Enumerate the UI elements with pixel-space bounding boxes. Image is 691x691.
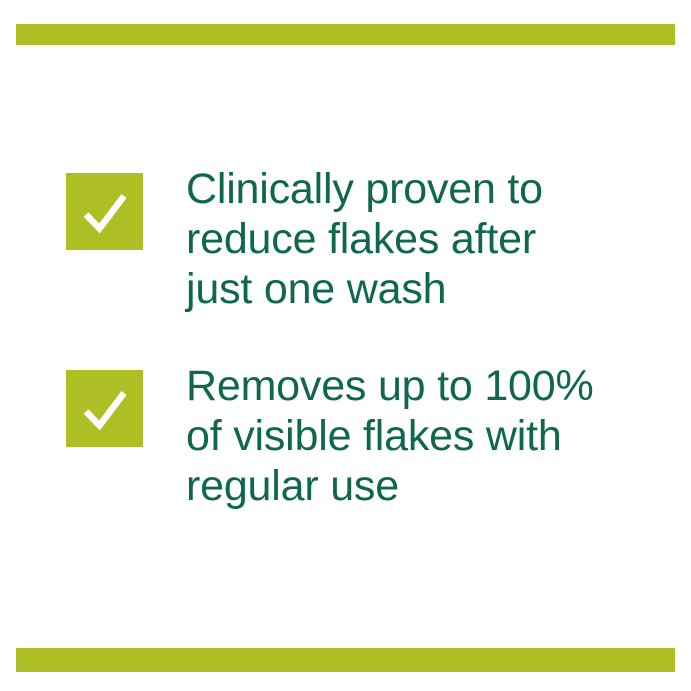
benefit-text-line: Clinically proven to bbox=[186, 164, 543, 214]
bottom-accent-bar bbox=[16, 648, 675, 672]
benefit-text: Removes up to 100% of visible flakes wit… bbox=[186, 361, 594, 511]
checkmark-badge bbox=[66, 173, 143, 250]
checkmark-badge bbox=[66, 370, 143, 447]
benefit-text: Clinically proven to reduce flakes after… bbox=[186, 164, 543, 314]
benefit-text-line: reduce flakes after bbox=[186, 214, 543, 264]
checkmark-icon bbox=[66, 370, 143, 447]
infographic-canvas: Clinically proven to reduce flakes after… bbox=[0, 0, 691, 691]
top-accent-bar bbox=[16, 24, 675, 45]
benefit-item: Removes up to 100% of visible flakes wit… bbox=[66, 370, 594, 511]
benefit-text-line: just one wash bbox=[186, 264, 543, 314]
benefit-text-line: of visible flakes with bbox=[186, 411, 594, 461]
benefit-text-line: Removes up to 100% bbox=[186, 361, 594, 411]
benefit-item: Clinically proven to reduce flakes after… bbox=[66, 173, 543, 314]
benefit-text-line: regular use bbox=[186, 461, 594, 511]
checkmark-icon bbox=[66, 173, 143, 250]
